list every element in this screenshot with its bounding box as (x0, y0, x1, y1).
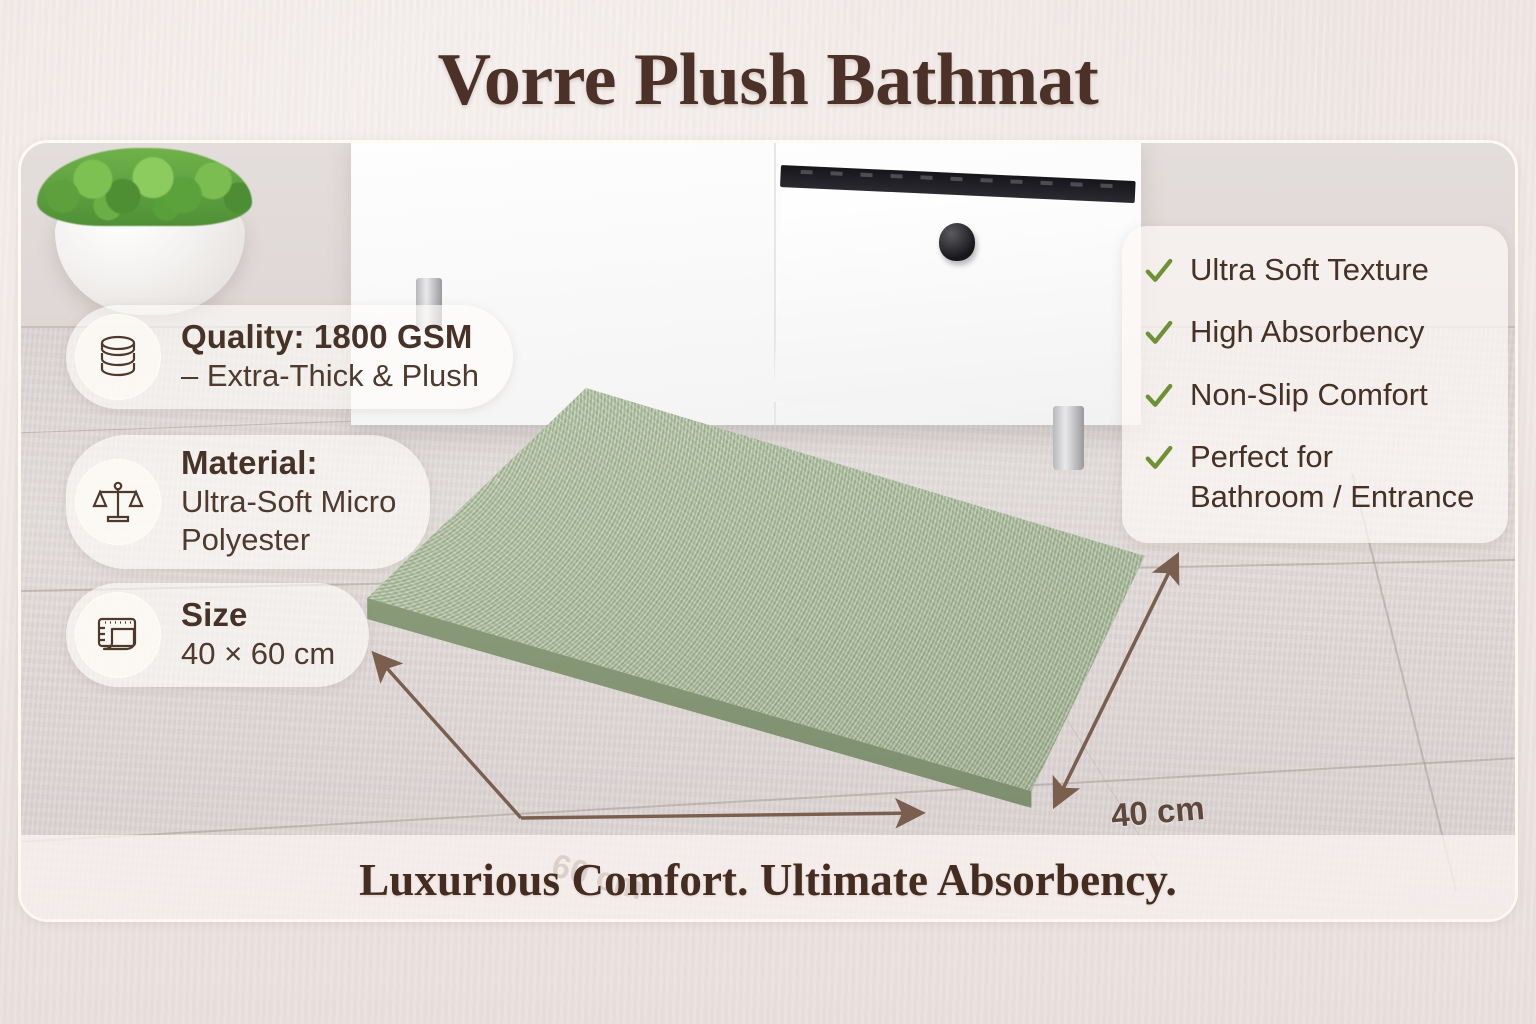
page-title: Vorre Plush Bathmat (0, 38, 1536, 123)
spec-title: Size (181, 596, 335, 635)
bathmat-product (351, 388, 1161, 808)
spec-sub-line1: Ultra-Soft Micro (181, 483, 396, 521)
benefit-item[interactable]: Ultra Soft Texture (1144, 250, 1488, 290)
balance-scale-icon (75, 459, 161, 545)
benefit-label: High Absorbency (1190, 312, 1424, 352)
spec-pill-material[interactable]: Material: Ultra-Soft Micro Polyester (66, 435, 430, 569)
spec-pill-size[interactable]: Size 40 × 60 cm (66, 583, 369, 687)
check-icon (1144, 256, 1174, 286)
benefit-item[interactable]: High Absorbency (1144, 312, 1488, 352)
spec-title: Quality: 1800 GSM (181, 318, 479, 357)
spec-text-quality: Quality: 1800 GSM – Extra-Thick & Plush (181, 318, 479, 395)
stacked-layers-icon (75, 314, 161, 400)
benefit-item[interactable]: Non-Slip Comfort (1144, 375, 1488, 415)
benefit-label: Non-Slip Comfort (1190, 375, 1428, 415)
check-icon (1144, 443, 1174, 473)
spec-sub-line2: Polyester (181, 521, 396, 559)
check-icon (1144, 318, 1174, 348)
spec-title: Material: (181, 444, 396, 483)
cabinet-knob (939, 223, 975, 261)
width-dimension-label: 40 cm (1110, 789, 1207, 835)
bathmat-pile-texture (351, 388, 1161, 808)
benefit-label: Perfect for Bathroom / Entrance (1190, 437, 1474, 518)
benefit-item[interactable]: Perfect for Bathroom / Entrance (1144, 437, 1488, 518)
benefit-label: Ultra Soft Texture (1190, 250, 1429, 290)
check-icon (1144, 381, 1174, 411)
spec-pill-quality[interactable]: Quality: 1800 GSM – Extra-Thick & Plush (66, 305, 513, 409)
spec-sub: 40 × 60 cm (181, 635, 335, 673)
spec-text-size: Size 40 × 60 cm (181, 596, 335, 673)
tagline-band: Luxurious Comfort. Ultimate Absorbency. (21, 835, 1515, 922)
cabinet-drawer-front (773, 187, 1134, 418)
tagline-text: Luxurious Comfort. Ultimate Absorbency. (359, 854, 1177, 906)
spec-text-material: Material: Ultra-Soft Micro Polyester (181, 444, 396, 560)
benefits-card: Ultra Soft Texture High Absorbency Non-S… (1122, 226, 1508, 543)
spec-sub: – Extra-Thick & Plush (181, 357, 479, 395)
rolled-mat-ruler-icon (75, 592, 161, 678)
